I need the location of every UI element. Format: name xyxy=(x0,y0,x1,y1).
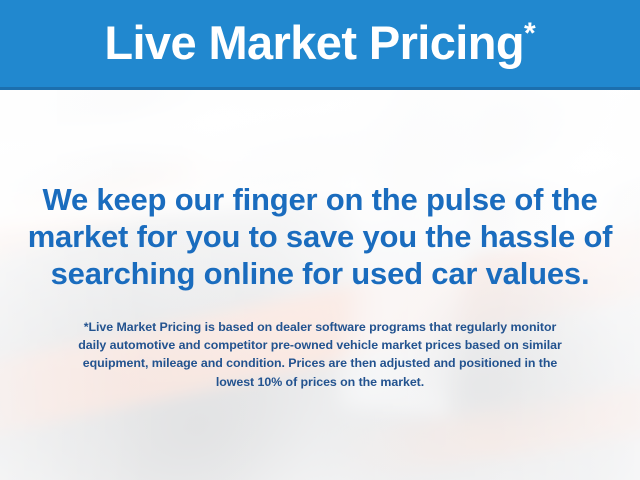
page-title: Live Market Pricing* xyxy=(104,19,535,68)
page-title-asterisk: * xyxy=(524,17,536,50)
disclaimer-line-1: *Live Market Pricing is based on dealer … xyxy=(24,318,616,336)
headline-line-2: market for you to save you the hassle of xyxy=(0,218,640,255)
disclaimer-block: *Live Market Pricing is based on dealer … xyxy=(24,318,616,391)
disclaimer-line-2: daily automotive and competitor pre-owne… xyxy=(24,336,616,354)
disclaimer-line-4: lowest 10% of prices on the market. xyxy=(24,373,616,391)
headline-line-1: We keep our finger on the pulse of the xyxy=(0,181,640,218)
header-banner: Live Market Pricing* xyxy=(0,0,640,87)
header-underline xyxy=(0,87,640,90)
headline-block: We keep our finger on the pulse of the m… xyxy=(0,181,640,292)
live-market-pricing-banner: Live Market Pricing* We keep our finger … xyxy=(0,0,640,480)
disclaimer-line-3: equipment, mileage and condition. Prices… xyxy=(24,354,616,372)
headline-line-3: searching online for used car values. xyxy=(0,255,640,292)
page-title-text: Live Market Pricing xyxy=(104,16,524,69)
